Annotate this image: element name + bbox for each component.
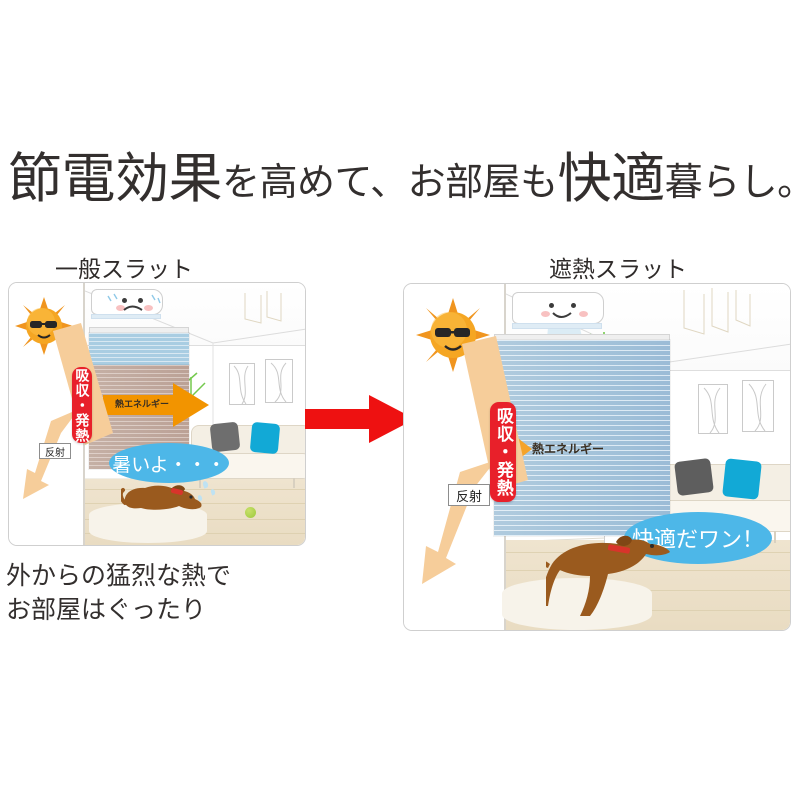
left-heat-energy-label: 熱エネルギー: [115, 397, 169, 410]
headline-part-1: 節電効果: [8, 149, 222, 209]
left-blind-upper: [89, 333, 189, 365]
left-scene: 熱エネルギー 暑いよ・・・: [9, 283, 305, 545]
right-panel-title: 遮熱スラット: [549, 250, 687, 284]
sun-sunglasses-icon-left: [15, 297, 73, 355]
right-room-interior: 熱エネルギー 快適だワン！: [506, 284, 790, 630]
right-scene: 熱エネルギー 快適だワン！: [404, 284, 790, 630]
page-title: 節電効果を高めて、お部屋も快適暮らし。: [8, 152, 800, 206]
left-aircon-icon: [91, 289, 163, 315]
right-arrow-icon: [305, 393, 417, 445]
left-absorb-label: 吸収・発熱: [72, 367, 92, 443]
caption-line-1: 外からの猛烈な熱で: [6, 556, 231, 592]
right-heat-energy-label: 熱エネルギー: [532, 440, 604, 457]
left-aircon-vent: [91, 314, 161, 319]
right-absorb-label: 吸収・発熱: [490, 402, 516, 502]
headline-part-4: 暮らし。: [665, 162, 800, 204]
sun-sunglasses-icon-right: [416, 298, 490, 372]
right-aircon-icon: [512, 292, 604, 324]
left-wall-art-2: [265, 359, 293, 403]
left-cushion-blue: [250, 422, 281, 454]
left-panel-title: 一般スラット: [55, 250, 193, 284]
left-wall-art-1: [229, 363, 255, 405]
headline-part-2: を高めて、お部屋も: [222, 162, 558, 204]
left-cushion-gray: [210, 422, 241, 453]
left-illustration-panel: 熱エネルギー 暑いよ・・・: [8, 282, 306, 546]
left-room-interior: 熱エネルギー 暑いよ・・・: [85, 283, 305, 545]
left-ball: [245, 507, 256, 518]
right-dog-jumping: [546, 520, 678, 623]
right-illustration-panel: 熱エネルギー 快適だワン！: [403, 283, 791, 631]
right-aircon-vent: [512, 323, 602, 329]
left-reflect-label: 反射: [39, 443, 71, 459]
poster-canvas: 節電効果を高めて、お部屋も快適暮らし。 一般スラット 遮熱スラット: [0, 0, 800, 800]
right-reflect-label: 反射: [448, 484, 490, 506]
headline-part-3: 快適: [558, 149, 665, 209]
caption-line-2: お部屋はぐったり: [6, 590, 206, 626]
